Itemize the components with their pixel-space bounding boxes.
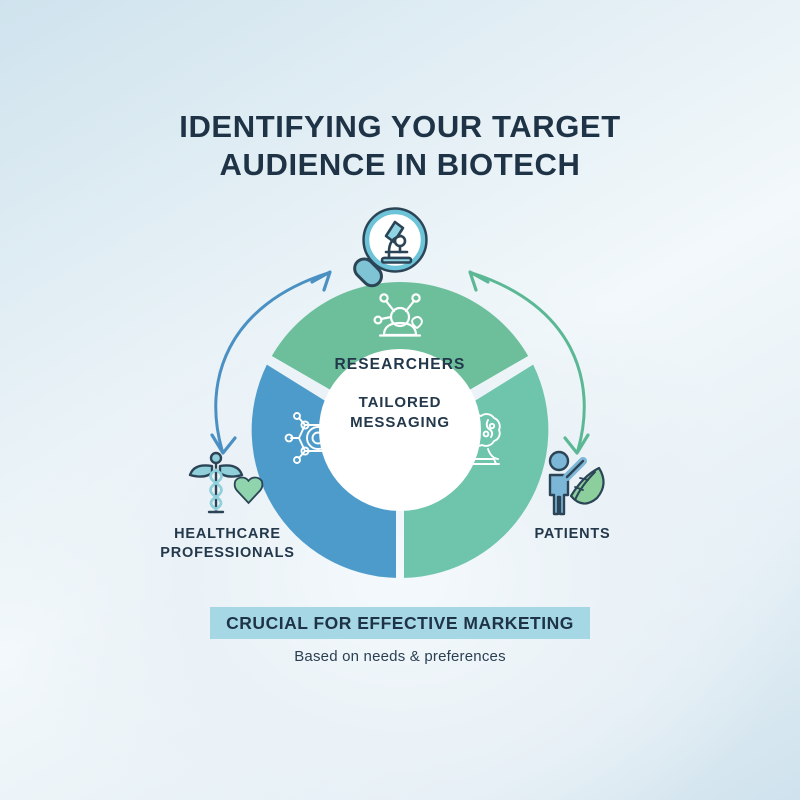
caduceus-heart-icon — [182, 448, 274, 525]
infographic-canvas: IDENTIFYING YOUR TARGET AUDIENCE IN BIOT… — [0, 0, 800, 800]
label-healthcare-line-1: HEALTHCARE — [140, 525, 315, 544]
highlight-banner: CRUCIAL FOR EFFECTIVE MARKETING — [210, 607, 590, 639]
banner-subtext: Based on needs & preferences — [0, 648, 800, 665]
banner-text: CRUCIAL FOR EFFECTIVE MARKETING — [226, 613, 574, 634]
heart-glyph — [235, 478, 263, 503]
label-healthcare-line-2: PROFESSIONALS — [140, 544, 315, 563]
donut-center-circle — [319, 349, 481, 511]
title-line-1: IDENTIFYING YOUR TARGET — [0, 108, 800, 146]
person-glyph — [550, 452, 583, 514]
page-title: IDENTIFYING YOUR TARGET AUDIENCE IN BIOT… — [0, 108, 800, 184]
title-line-2: AUDIENCE IN BIOTECH — [0, 146, 800, 184]
patient-leaf-icon — [533, 448, 613, 525]
magnifier-microscope-icon — [337, 200, 437, 305]
label-healthcare-professionals: HEALTHCARE PROFESSIONALS — [140, 525, 315, 563]
label-patients: PATIENTS — [500, 525, 645, 544]
